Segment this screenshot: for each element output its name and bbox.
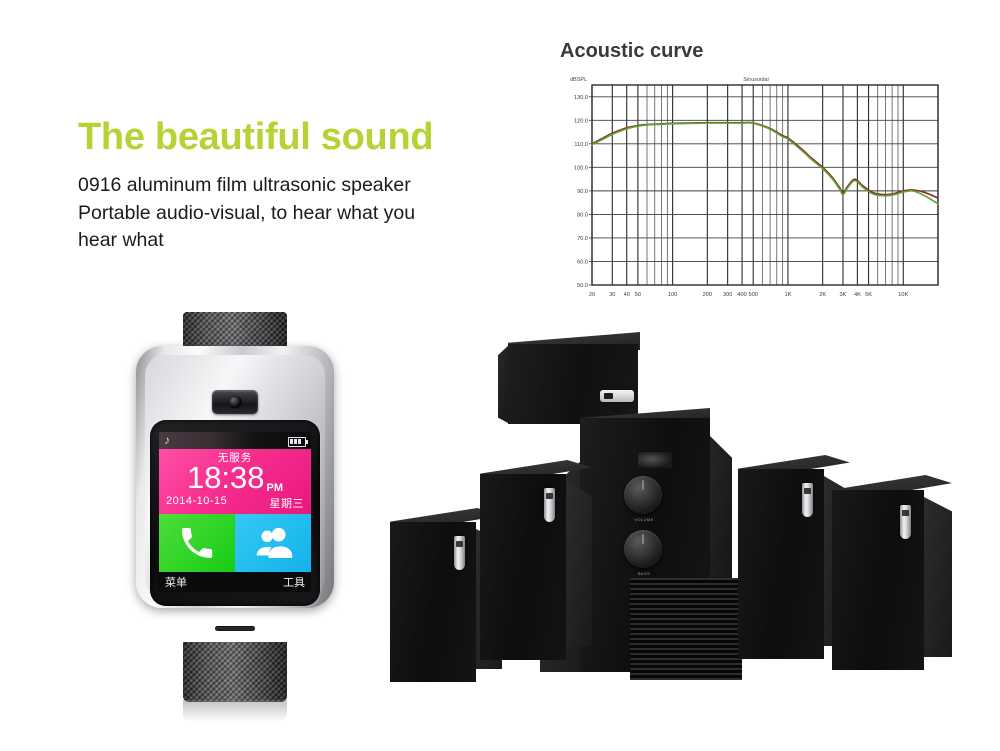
chart-title: Acoustic curve	[560, 40, 956, 63]
phone-icon	[177, 523, 217, 563]
svg-text:80.0: 80.0	[577, 212, 588, 218]
clock-date-row: 2014-10-15 星期三	[159, 495, 311, 511]
svg-text:300: 300	[723, 292, 732, 298]
clock-date: 2014-10-15	[166, 495, 227, 511]
svg-text:4K: 4K	[854, 292, 861, 298]
chart-series	[592, 122, 938, 203]
bass-knob-label: BASS	[624, 571, 664, 576]
clock-time: 18:38	[187, 460, 265, 495]
svg-text:120.0: 120.0	[574, 118, 588, 124]
svg-text:50.0: 50.0	[577, 283, 588, 289]
svg-text:3K: 3K	[840, 292, 847, 298]
volume-knob-label: VOLUME	[624, 517, 664, 522]
music-note-icon: ♪	[164, 434, 170, 447]
battery-icon	[288, 437, 306, 447]
svg-text:100: 100	[668, 292, 677, 298]
speaker-system-photo: VOLUME BASS	[390, 330, 970, 690]
satellite-side	[924, 497, 952, 657]
svg-text:2K: 2K	[819, 292, 826, 298]
volume-knob[interactable]	[624, 476, 662, 514]
svg-text:130.0: 130.0	[574, 95, 588, 101]
smartwatch-product-photo: ♪ 无服务 18:38PM 2014-10-15	[133, 312, 337, 714]
satellite-speaker-2	[480, 460, 602, 675]
soft-key-bar: 菜单 工具	[159, 572, 311, 592]
acoustic-curve-panel: Acoustic curve 130.0120.0110.0100.090.08…	[556, 40, 956, 325]
softkey-tools[interactable]: 工具	[283, 574, 305, 590]
plot-frame	[592, 85, 938, 285]
subtitle-line-2: Portable audio-visual, to hear what you	[78, 200, 548, 228]
brand-badge-icon	[454, 536, 465, 570]
svg-text:50: 50	[635, 292, 641, 298]
brand-logo-icon	[638, 452, 672, 468]
clock-time-row: 18:38PM	[159, 461, 311, 495]
subtitle-text: 0916 aluminum film ultrasonic speaker Po…	[78, 172, 548, 255]
svg-text:200: 200	[703, 292, 712, 298]
svg-text:1K: 1K	[785, 292, 792, 298]
watch-band-bottom	[183, 642, 287, 702]
page-title: The beautiful sound	[78, 118, 548, 158]
clock-ampm: PM	[267, 482, 284, 494]
watch-speaker-slot	[215, 626, 255, 631]
camera-module	[212, 390, 258, 414]
y-axis-label: dBSPL	[570, 77, 587, 83]
brand-badge-icon	[900, 505, 911, 539]
svg-text:70.0: 70.0	[577, 236, 588, 242]
watch-screen[interactable]: ♪ 无服务 18:38PM 2014-10-15	[159, 432, 311, 592]
svg-text:40: 40	[624, 292, 630, 298]
svg-text:90.0: 90.0	[577, 189, 588, 195]
clock-weekday: 星期三	[270, 495, 305, 511]
y-axis-tick-labels: 130.0120.0110.0100.090.080.070.060.050.0	[574, 95, 592, 289]
clock-tile[interactable]: 无服务 18:38PM 2014-10-15 星期三	[159, 449, 311, 514]
chart-subtitle: Sinusoidal	[743, 77, 768, 83]
bass-knob[interactable]	[624, 530, 662, 568]
product-banner: The beautiful sound 0916 aluminum film u…	[0, 0, 1000, 751]
brand-badge-icon	[600, 390, 634, 402]
softkey-menu[interactable]: 菜单	[165, 574, 187, 590]
watch-band-reflection	[183, 700, 287, 722]
svg-text:400: 400	[737, 292, 746, 298]
headline-block: The beautiful sound 0916 aluminum film u…	[78, 118, 548, 255]
svg-text:10K: 10K	[898, 292, 908, 298]
svg-text:110.0: 110.0	[574, 142, 588, 148]
watch-case: ♪ 无服务 18:38PM 2014-10-15	[136, 346, 334, 608]
svg-text:5K: 5K	[865, 292, 872, 298]
svg-text:500: 500	[749, 292, 758, 298]
subtitle-line-1: 0916 aluminum film ultrasonic speaker	[78, 172, 548, 200]
svg-text:30: 30	[609, 292, 615, 298]
svg-text:20: 20	[589, 292, 595, 298]
x-axis-tick-labels: 203040501002003004005001K2K3K4K5K10K	[589, 292, 909, 298]
satellite-speaker-4	[832, 475, 962, 685]
subtitle-line-3: hear what	[78, 227, 548, 255]
subwoofer-grille	[630, 578, 742, 680]
brand-badge-icon	[544, 488, 555, 522]
watch-bezel: ♪ 无服务 18:38PM 2014-10-15	[150, 420, 320, 606]
phone-tile[interactable]	[159, 514, 235, 572]
svg-text:100.0: 100.0	[574, 165, 588, 171]
satellite-side	[566, 481, 592, 647]
contacts-icon	[253, 523, 293, 563]
chart-gridlines	[592, 85, 938, 285]
contacts-tile[interactable]	[235, 514, 311, 572]
status-bar: ♪	[159, 432, 311, 449]
frequency-response-plot: 130.0120.0110.0100.090.080.070.060.050.0…	[556, 71, 948, 316]
svg-text:60.0: 60.0	[577, 259, 588, 265]
chart-canvas: 130.0120.0110.0100.090.080.070.060.050.0…	[556, 71, 948, 316]
brand-badge-icon	[802, 483, 813, 517]
camera-lens-icon	[229, 396, 242, 409]
